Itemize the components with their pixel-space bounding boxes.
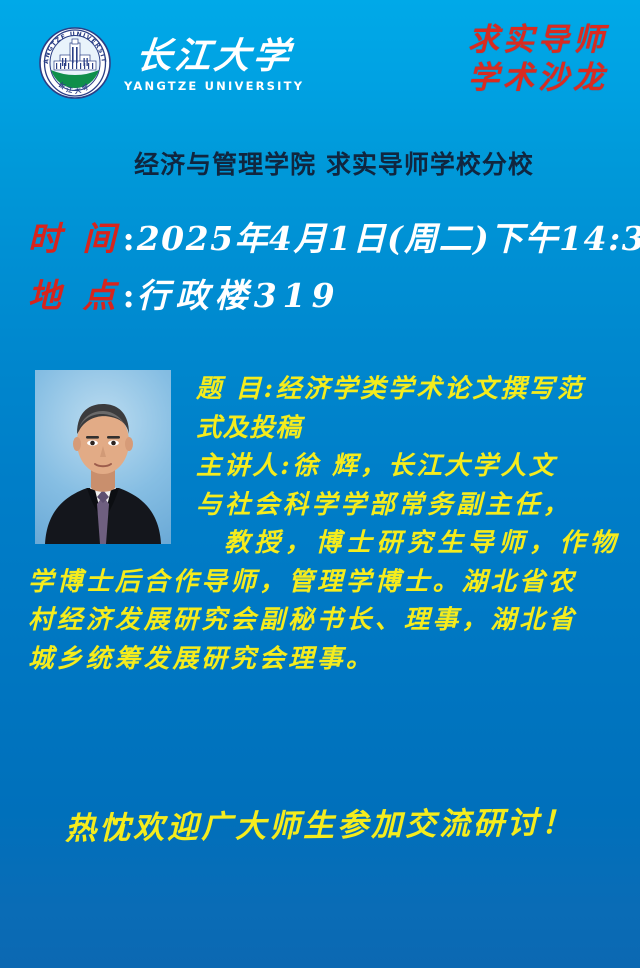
event-time-label: 时 间 bbox=[28, 219, 121, 258]
university-name-cn: 长江大学 bbox=[134, 38, 294, 74]
speaker-line-4: 学博士后合作导师，管理学博士。湖北省农 bbox=[28, 563, 614, 602]
salon-title: 求实导师 学术沙龙 bbox=[468, 22, 608, 98]
event-time-colon: : bbox=[121, 219, 137, 258]
speaker-line-1: 主讲人:徐 辉，长江大学人文 bbox=[28, 447, 614, 486]
event-poster: YANGTZE UNIVERSITY 长江大学 长江大学 YANGTZE UNI… bbox=[0, 0, 640, 968]
event-place-label: 地 点 bbox=[28, 276, 121, 315]
speaker-line-6: 城乡统筹发展研究会理事。 bbox=[28, 640, 614, 679]
welcome-slogan: 热忱欢迎广大师生参加交流研讨！ bbox=[0, 796, 640, 849]
topic-paragraph: 题 目:经济学类学术论文撰写范 式及投稿 bbox=[28, 370, 614, 447]
event-time-value: 2025年4月1日(周二)下午14:30 bbox=[137, 219, 640, 258]
speaker-line-5: 村经济发展研究会副秘书长、理事，湖北省 bbox=[28, 601, 614, 640]
university-wordmark: 长江大学 YANGTZE UNIVERSITY bbox=[124, 34, 304, 93]
speaker-description: 题 目:经济学类学术论文撰写范 式及投稿 主讲人:徐 辉，长江大学人文 与社会科… bbox=[28, 370, 614, 678]
salon-title-line1: 求实导师 bbox=[468, 22, 608, 60]
poster-header: YANGTZE UNIVERSITY 长江大学 长江大学 YANGTZE UNI… bbox=[0, 0, 640, 120]
event-time-row: 时 间:2025年4月1日(周二)下午14:30 bbox=[28, 222, 640, 255]
university-name-en: YANGTZE UNIVERSITY bbox=[124, 79, 304, 93]
poster-subtitle: 经济与管理学院 求实导师学校分校 bbox=[0, 145, 640, 181]
university-crest-icon: YANGTZE UNIVERSITY 长江大学 bbox=[38, 26, 112, 100]
speaker-line-2: 与社会科学学部常务副主任， bbox=[28, 486, 614, 525]
speaker-line-3: 教授，博士研究生导师，作物 bbox=[28, 524, 614, 563]
event-place-row: 地 点:行政楼319 bbox=[28, 279, 341, 312]
event-place-colon: : bbox=[121, 276, 137, 315]
topic-line-1: 题 目:经济学类学术论文撰写范 bbox=[28, 370, 614, 409]
event-place-value: 行政楼319 bbox=[137, 276, 341, 315]
university-logo-lockup: YANGTZE UNIVERSITY 长江大学 长江大学 YANGTZE UNI… bbox=[38, 26, 304, 100]
topic-line-2: 式及投稿 bbox=[28, 409, 614, 448]
speaker-paragraph: 主讲人:徐 辉，长江大学人文 与社会科学学部常务副主任， 教授，博士研究生导师，… bbox=[28, 447, 614, 678]
salon-title-line2: 学术沙龙 bbox=[468, 60, 608, 98]
